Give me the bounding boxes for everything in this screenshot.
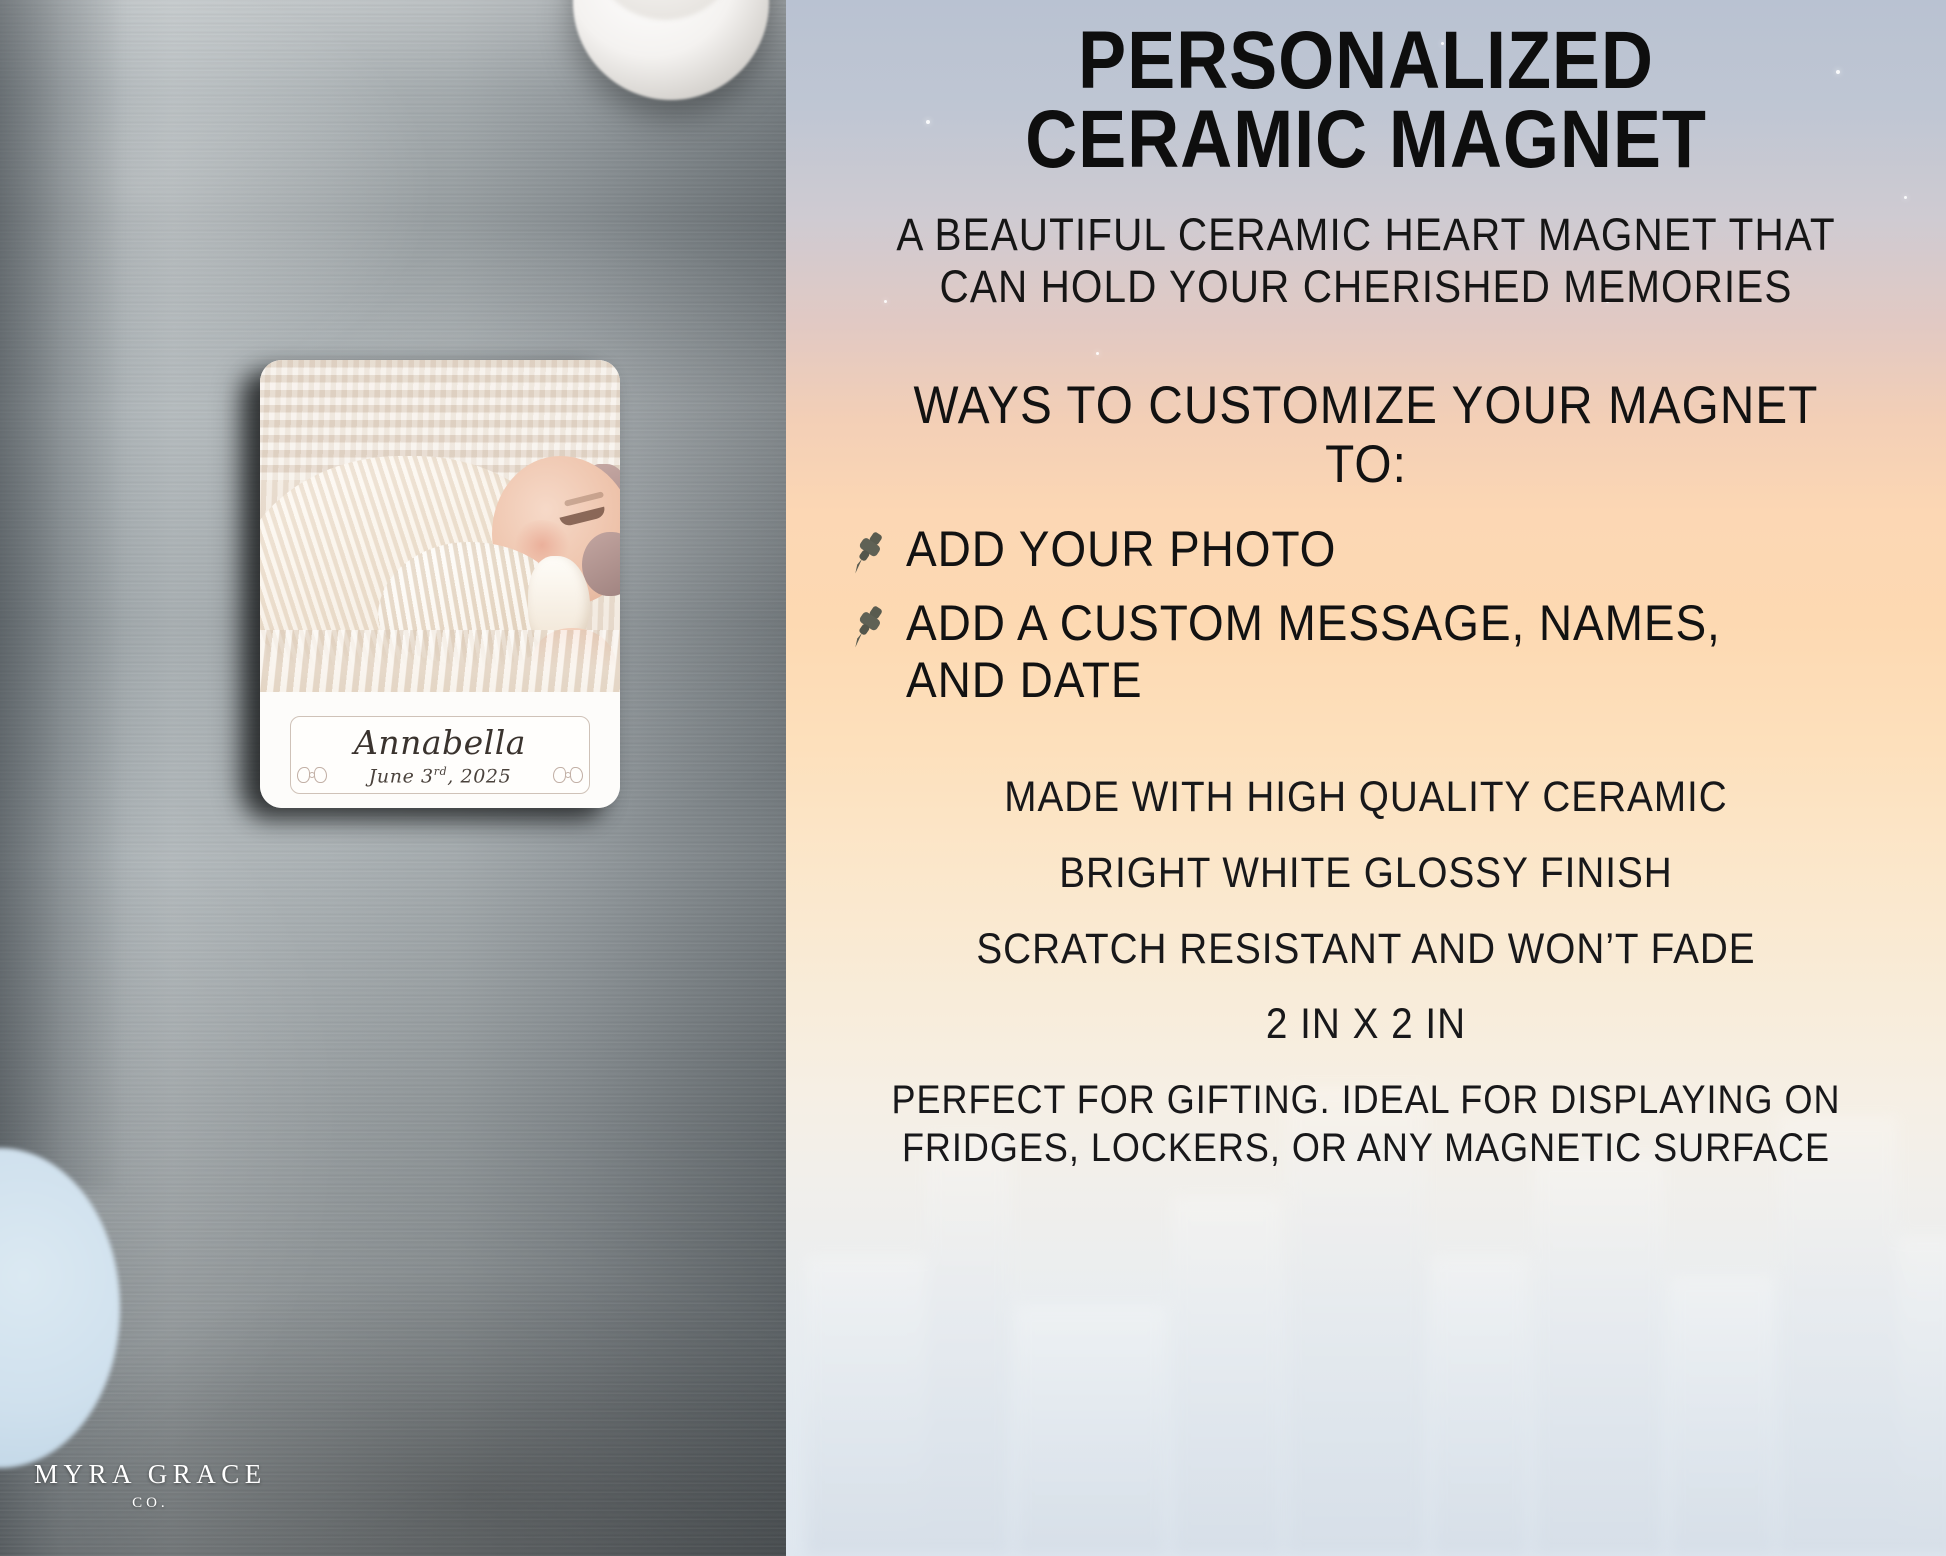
magnet-date-text: June 3rd, 2025 <box>291 765 589 787</box>
customize-heading: WAYS TO CUSTOMIZE YOUR MAGNET TO: <box>885 376 1846 495</box>
feature-item: 2 IN X 2 IN <box>885 1000 1846 1050</box>
subheadline: A BEAUTIFUL CERAMIC HEART MAGNET THAT CA… <box>885 209 1846 312</box>
list-item: ADD A CUSTOM MESSAGE, NAMES, AND DATE <box>832 595 1900 709</box>
list-item: ADD YOUR PHOTO <box>832 521 1900 579</box>
list-item-label: ADD A CUSTOM MESSAGE, NAMES, AND DATE <box>906 595 1820 709</box>
ceramic-photo-magnet: Annabella June 3rd, 2025 <box>260 360 620 808</box>
magnet-name-plate: Annabella June 3rd, 2025 <box>290 716 590 794</box>
feature-item: MADE WITH HIGH QUALITY CERAMIC <box>885 773 1846 823</box>
brand-suffix: CO. <box>34 1495 267 1512</box>
scalloped-edge <box>260 692 620 712</box>
headline-line-2: CERAMIC MAGNET <box>896 101 1836 180</box>
product-listing-image: Annabella June 3rd, 2025 MYRA GRACE CO. <box>0 0 1946 1556</box>
pushpin-icon <box>840 527 892 579</box>
brand-logo: MYRA GRACE CO. <box>34 1459 267 1512</box>
feature-item: SCRATCH RESISTANT AND WON’T FADE <box>885 925 1846 975</box>
magnet-name-band: Annabella June 3rd, 2025 <box>260 692 620 808</box>
feature-list: MADE WITH HIGH QUALITY CERAMIC BRIGHT WH… <box>832 773 1900 1173</box>
magnet-date-suffix: , 2025 <box>447 765 511 787</box>
headline-line-1: PERSONALIZED <box>896 22 1836 101</box>
page-title: PERSONALIZED CERAMIC MAGNET <box>896 22 1836 179</box>
closing-statement: PERFECT FOR GIFTING. IDEAL FOR DISPLAYIN… <box>885 1076 1846 1172</box>
appliance-handle <box>0 0 120 1190</box>
magnet-name-text: Annabella <box>291 723 589 762</box>
knit-blanket-foreground <box>260 630 620 700</box>
info-content: PERSONALIZED CERAMIC MAGNET A BEAUTIFUL … <box>786 0 1946 1172</box>
brand-name: MYRA GRACE <box>34 1459 267 1490</box>
feature-item: BRIGHT WHITE GLOSSY FINISH <box>885 849 1846 899</box>
magnet-date-ordinal: rd <box>434 765 448 778</box>
fridge-photo-panel: Annabella June 3rd, 2025 MYRA GRACE CO. <box>0 0 786 1556</box>
magnet-baby-photo <box>260 360 620 700</box>
product-info-panel: PERSONALIZED CERAMIC MAGNET A BEAUTIFUL … <box>786 0 1946 1556</box>
pushpin-icon <box>840 601 892 653</box>
magnet-date-prefix: June 3 <box>369 765 434 787</box>
list-item-label: ADD YOUR PHOTO <box>906 521 1820 578</box>
customization-list: ADD YOUR PHOTO ADD A CUST <box>832 521 1900 709</box>
